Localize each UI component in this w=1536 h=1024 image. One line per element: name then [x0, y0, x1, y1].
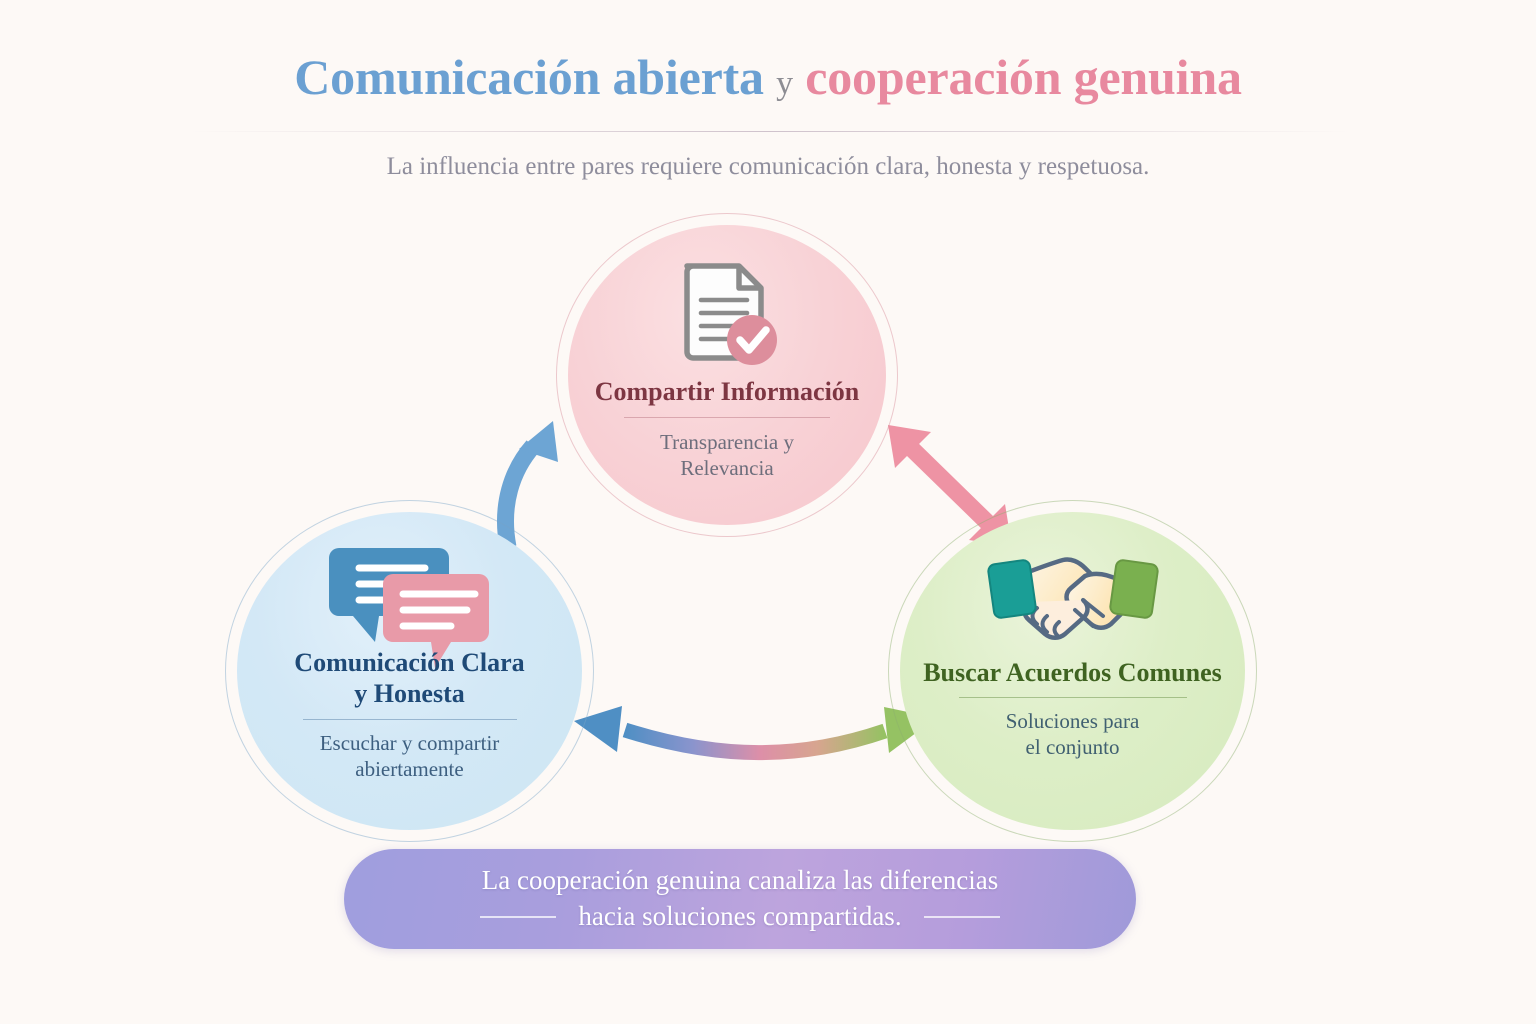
node-title: Compartir Información [568, 377, 886, 408]
node-title-divider [624, 417, 830, 418]
arrow-left-to-top [506, 421, 558, 547]
banner-decorative-line-left [480, 916, 556, 918]
arrow-right-to-left [574, 706, 936, 753]
node-comunicacion-clara-honesta[interactable]: Comunicación Clara y Honesta Escuchar y … [237, 512, 582, 830]
node-title-line1: Comunicación Clara [237, 648, 582, 679]
node-title: Comunicación Clara y Honesta [237, 648, 582, 709]
node-subtitle-line1: Escuchar y compartir [237, 731, 582, 757]
cycle-diagram: Compartir Información Transparencia y Re… [0, 0, 1536, 1024]
banner-line2: hacia soluciones compartidas. [578, 900, 901, 934]
node-title-divider [303, 719, 517, 720]
node-title: Buscar Acuerdos Comunes [900, 658, 1245, 689]
document-check-icon [673, 260, 781, 372]
node-subtitle-line1: Transparencia y [568, 430, 886, 456]
node-subtitle: Escuchar y compartir abiertamente [237, 731, 582, 782]
banner-decorative-line-right [924, 916, 1000, 918]
node-subtitle-line1: Soluciones para [900, 709, 1245, 735]
node-subtitle-line2: abiertamente [237, 757, 582, 783]
node-subtitle-line2: el conjunto [900, 735, 1245, 761]
node-compartir-informacion[interactable]: Compartir Información Transparencia y Re… [568, 225, 886, 525]
banner-line2-row: hacia soluciones compartidas. [480, 900, 999, 934]
node-title-divider [959, 697, 1187, 698]
node-subtitle-line2: Relevancia [568, 456, 886, 482]
summary-banner: La cooperación genuina canaliza las dife… [344, 849, 1136, 949]
node-subtitle: Transparencia y Relevancia [568, 430, 886, 481]
handshake-icon [987, 544, 1159, 654]
banner-line1: La cooperación genuina canaliza las dife… [482, 864, 998, 898]
node-buscar-acuerdos-comunes[interactable]: Buscar Acuerdos Comunes Soluciones para … [900, 512, 1245, 830]
node-subtitle: Soluciones para el conjunto [900, 709, 1245, 760]
node-title-line2: y Honesta [237, 679, 582, 710]
